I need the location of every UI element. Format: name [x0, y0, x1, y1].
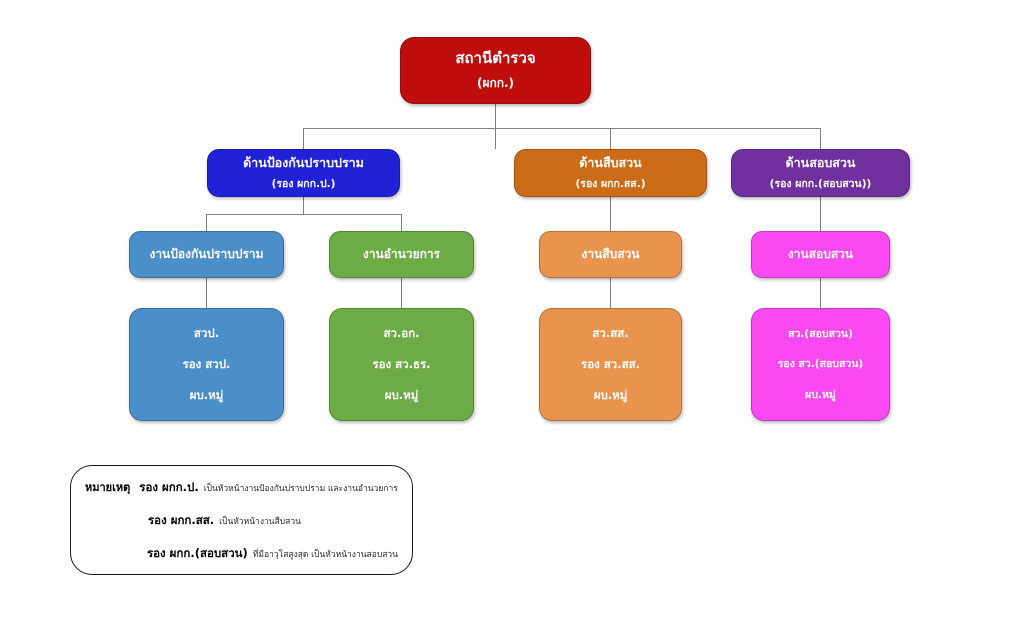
node-rank-investigation[interactable]: สว.สส. รอง สว.สส. ผบ.หมู่	[539, 308, 682, 421]
node-rank-inquiry[interactable]: สว.(สอบสวน) รอง สว.(สอบสวน) ผบ.หมู่	[751, 308, 890, 421]
org-chart-canvas: สถานีตำรวจ (ผกก.) ด้านป้องกันปราบปราม (ร…	[0, 0, 1024, 622]
node-division-investigation[interactable]: ด้านสืบสวน (รอง ผกก.สส.)	[514, 149, 707, 197]
connector-division-3-drop	[820, 128, 821, 150]
node-work-investigation[interactable]: งานสืบสวน	[539, 231, 682, 278]
node-work-inquiry[interactable]: งานสอบสวน	[751, 231, 890, 278]
note-row-3-text: ที่มีอาวุโสสูงสุด เป็นหัวหน้างานสอบสวน	[253, 547, 398, 561]
node-division-prevention-title: ด้านป้องกันปราบปราม	[208, 156, 399, 170]
note-row-2-strong: รอง ผกก.สส.	[148, 512, 214, 530]
node-work-investigation-label: งานสืบสวน	[540, 248, 681, 262]
connector-work-1-drop	[206, 214, 207, 231]
node-division-inquiry[interactable]: ด้านสอบสวน (รอง ผกก.(สอบสวน))	[731, 149, 910, 197]
node-rank-investigation-line-3: ผบ.หมู่	[540, 389, 681, 402]
note-row-2-text: เป็นหัวหน้างานสืบสวน	[219, 514, 301, 528]
connector-work-1-to-rank	[206, 278, 207, 308]
node-rank-inquiry-line-1: สว.(สอบสวน)	[752, 328, 889, 340]
node-rank-administration-line-2: รอง สว.ธร.	[330, 358, 473, 371]
node-police-station-title: สถานีตำรวจ	[401, 50, 590, 67]
connector-division-2-drop	[610, 128, 611, 150]
node-work-prevention-label: งานป้องกันปราบปราม	[130, 248, 283, 262]
node-rank-investigation-line-2: รอง สว.สส.	[540, 358, 681, 371]
connector-work-2-to-rank	[401, 278, 402, 308]
connector-division-1-bus	[206, 214, 402, 215]
note-row-3-strong: รอง ผกก.(สอบสวน)	[147, 545, 248, 563]
note-row: รอง ผกก.(สอบสวน) ที่มีอาวุโสสูงสุด เป็นห…	[85, 545, 398, 563]
connector-work-3-to-rank	[610, 278, 611, 308]
node-rank-prevention[interactable]: สวป. รอง สวป. ผบ.หมู่	[129, 308, 284, 421]
connector-root-stem	[495, 104, 496, 149]
connector-division-3-stem	[820, 197, 821, 231]
node-rank-prevention-line-2: รอง สวป.	[130, 358, 283, 371]
connector-division-1-stem	[303, 197, 304, 214]
connector-work-4-to-rank	[820, 278, 821, 308]
connector-root-bus	[303, 128, 821, 129]
node-work-inquiry-label: งานสอบสวน	[752, 248, 889, 262]
node-division-inquiry-rank: (รอง ผกก.(สอบสวน))	[732, 178, 909, 190]
connector-work-2-drop	[401, 214, 402, 231]
node-police-station-rank: (ผกก.)	[401, 77, 590, 91]
node-rank-administration-line-1: สว.อก.	[330, 327, 473, 340]
node-rank-administration-line-3: ผบ.หมู่	[330, 389, 473, 402]
node-work-administration[interactable]: งานอำนวยการ	[329, 231, 474, 278]
node-work-administration-label: งานอำนวยการ	[330, 248, 473, 262]
node-police-station[interactable]: สถานีตำรวจ (ผกก.)	[400, 37, 591, 104]
node-rank-inquiry-line-2: รอง สว.(สอบสวน)	[752, 358, 889, 370]
node-rank-prevention-line-3: ผบ.หมู่	[130, 389, 283, 402]
note-row-1-text: เป็นหัวหน้างานป้องกันปราบปราม และงานอำนว…	[204, 481, 398, 495]
node-division-prevention-rank: (รอง ผกก.ป.)	[208, 178, 399, 190]
note-row-1-strong: รอง ผกก.ป.	[139, 479, 198, 497]
node-work-prevention[interactable]: งานป้องกันปราบปราม	[129, 231, 284, 278]
note-row: รอง ผกก.สส. เป็นหัวหน้างานสืบสวน	[85, 512, 398, 530]
node-rank-inquiry-line-3: ผบ.หมู่	[752, 389, 889, 401]
node-division-inquiry-title: ด้านสอบสวน	[732, 156, 909, 170]
node-division-investigation-rank: (รอง ผกก.สส.)	[515, 178, 706, 190]
node-division-investigation-title: ด้านสืบสวน	[515, 156, 706, 170]
node-rank-administration[interactable]: สว.อก. รอง สว.ธร. ผบ.หมู่	[329, 308, 474, 421]
note-label: หมายเหตุ	[85, 478, 130, 496]
connector-division-2-stem	[610, 197, 611, 231]
node-division-prevention[interactable]: ด้านป้องกันปราบปราม (รอง ผกก.ป.)	[207, 149, 400, 197]
connector-division-1-drop	[303, 128, 304, 150]
node-rank-prevention-line-1: สวป.	[130, 327, 283, 340]
note-box: หมายเหตุ รอง ผกก.ป. เป็นหัวหน้างานป้องกั…	[70, 465, 413, 575]
note-row: หมายเหตุ รอง ผกก.ป. เป็นหัวหน้างานป้องกั…	[85, 478, 398, 497]
node-rank-investigation-line-1: สว.สส.	[540, 327, 681, 340]
